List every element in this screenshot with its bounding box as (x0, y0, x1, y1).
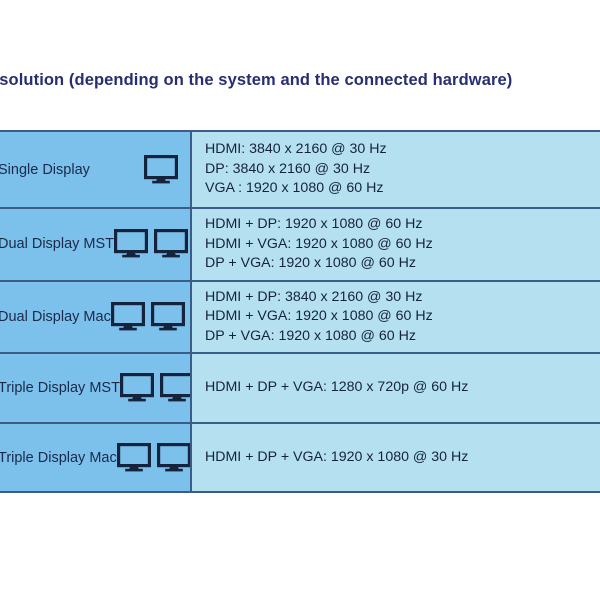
monitor-icon (120, 373, 154, 403)
page-title: Maximum resolution (depending on the sys… (0, 68, 600, 94)
monitor-icon-group (117, 443, 191, 473)
display-mode-label: Dual Display MST (0, 236, 114, 252)
resolution-line: VGA : 1920 x 1080 @ 60 Hz (205, 179, 600, 199)
resolution-line: DP: 3840 x 2160 @ 30 Hz (205, 160, 600, 180)
monitor-icon (157, 443, 191, 473)
resolution-cell: HDMI + DP + VGA: 1280 x 720p @ 60 Hz (191, 353, 600, 423)
max-resolution-table: Single Display HDMI: 3840 x 2160 @ 30 Hz… (0, 130, 600, 493)
table-row: Dual Display MST (0, 208, 600, 281)
resolution-cell: HDMI + DP: 3840 x 2160 @ 30 Hz HDMI + VG… (191, 281, 600, 354)
monitor-icon (160, 373, 191, 403)
display-mode-label: Triple Display MST (0, 380, 120, 396)
display-mode-label: Triple Display Mac (0, 450, 117, 466)
monitor-icon (151, 302, 185, 332)
table-row: Single Display HDMI: 3840 x 2160 @ 30 Hz… (0, 131, 600, 208)
display-mode-cell: Triple Display MST (0, 353, 191, 423)
monitor-icon (154, 229, 188, 259)
table-row: Dual Display Mac (0, 281, 600, 354)
resolution-list: HDMI: 3840 x 2160 @ 30 Hz DP: 3840 x 216… (205, 134, 600, 205)
resolution-list: HDMI + DP: 3840 x 2160 @ 30 Hz HDMI + VG… (205, 282, 600, 353)
resolution-line: HDMI: 3840 x 2160 @ 30 Hz (205, 140, 600, 160)
resolution-line: HDMI + DP: 1920 x 1080 @ 60 Hz (205, 215, 600, 235)
resolution-list: HDMI + DP + VGA: 1280 x 720p @ 60 Hz (205, 372, 600, 404)
page-title-text: Maximum resolution (depending on the sys… (0, 68, 512, 92)
resolution-cell: HDMI: 3840 x 2160 @ 30 Hz DP: 3840 x 216… (191, 131, 600, 208)
monitor-icon-group (144, 155, 178, 185)
monitor-icon-group (120, 373, 191, 403)
table-body: Single Display HDMI: 3840 x 2160 @ 30 Hz… (0, 131, 600, 492)
resolution-cell: HDMI + DP + VGA: 1920 x 1080 @ 30 Hz (191, 423, 600, 492)
display-mode-cell: Dual Display Mac (0, 281, 191, 354)
monitor-icon-group (114, 229, 188, 259)
display-mode-cell: Single Display (0, 131, 191, 208)
resolution-list: HDMI + DP: 1920 x 1080 @ 60 Hz HDMI + VG… (205, 209, 600, 280)
resolution-line: DP + VGA: 1920 x 1080 @ 60 Hz (205, 254, 600, 274)
display-mode-label: Single Display (0, 162, 90, 178)
monitor-icon (111, 302, 145, 332)
monitor-icon (144, 155, 178, 185)
resolution-line: HDMI + DP: 3840 x 2160 @ 30 Hz (205, 288, 600, 308)
monitor-icon (117, 443, 151, 473)
resolution-line: HDMI + VGA: 1920 x 1080 @ 60 Hz (205, 307, 600, 327)
table-row: Triple Display Mac (0, 423, 600, 492)
resolution-line: DP + VGA: 1920 x 1080 @ 60 Hz (205, 327, 600, 347)
display-mode-label: Dual Display Mac (0, 309, 111, 325)
resolution-line: HDMI + DP + VGA: 1920 x 1080 @ 30 Hz (205, 448, 600, 468)
monitor-icon (114, 229, 148, 259)
table-row: Triple Display MST (0, 353, 600, 423)
resolution-line: HDMI + VGA: 1920 x 1080 @ 60 Hz (205, 235, 600, 255)
resolution-list: HDMI + DP + VGA: 1920 x 1080 @ 30 Hz (205, 442, 600, 474)
display-mode-cell: Dual Display MST (0, 208, 191, 281)
monitor-icon-group (111, 302, 185, 332)
resolution-line: HDMI + DP + VGA: 1280 x 720p @ 60 Hz (205, 378, 600, 398)
resolution-cell: HDMI + DP: 1920 x 1080 @ 60 Hz HDMI + VG… (191, 208, 600, 281)
display-mode-cell: Triple Display Mac (0, 423, 191, 492)
